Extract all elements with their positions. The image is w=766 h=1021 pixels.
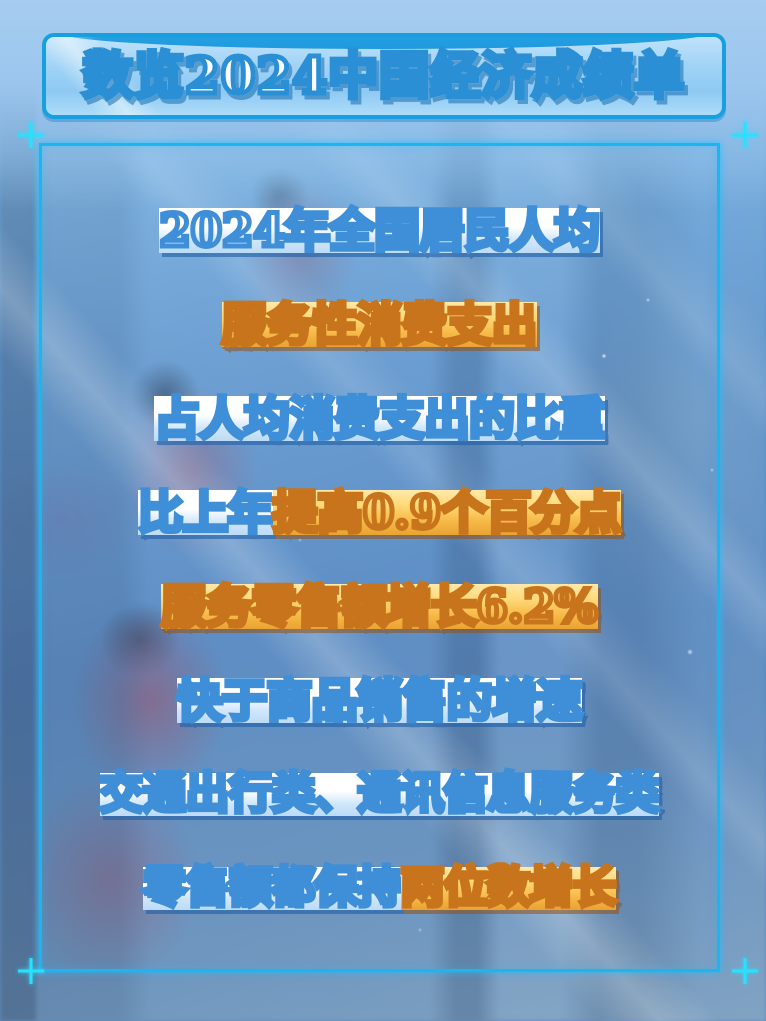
page-title: 数览2024中国经济成绩单 <box>83 51 685 101</box>
body-line-7-segment-1: 交通出行类、通讯信息服务类 <box>100 773 659 816</box>
body-line-7: 交通出行类、通讯信息服务类 <box>100 747 659 841</box>
body-line-4-segment-2: 提高0.9个百分点 <box>273 490 621 535</box>
body-line-4-segment-1: 比上年 <box>138 490 273 535</box>
body-line-6-segment-1: 快于商品销售的增速 <box>177 678 582 723</box>
body-line-3-segment-1: 占人均消费支出的比重 <box>154 396 604 441</box>
body-line-6: 快于商品销售的增速 <box>177 653 582 747</box>
body-line-2: 服务性消费支出 <box>222 277 537 371</box>
poster-root: 数览2024中国经济成绩单 2024年全国居民人均 服务性消费支出 占人均消费支… <box>0 0 766 1021</box>
body-line-5-segment-1: 服务零售额增长6.2% <box>161 584 597 629</box>
body-line-1-segment-1: 2024年全国居民人均 <box>159 208 599 253</box>
body-text-block: 2024年全国居民人均 服务性消费支出 占人均消费支出的比重 比上年 提高0.9… <box>39 143 720 972</box>
body-line-8-segment-2: 两位数增长 <box>401 867 616 910</box>
body-line-5: 服务零售额增长6.2% <box>161 559 597 653</box>
body-line-1: 2024年全国居民人均 <box>159 183 599 277</box>
title-banner: 数览2024中国经济成绩单 <box>42 33 726 119</box>
body-line-4: 比上年 提高0.9个百分点 <box>138 465 621 559</box>
body-line-8-segment-1: 零售额都保持 <box>143 867 401 910</box>
body-line-8: 零售额都保持 两位数增长 <box>143 841 616 935</box>
body-line-3: 占人均消费支出的比重 <box>154 371 604 465</box>
body-line-2-segment-1: 服务性消费支出 <box>222 302 537 347</box>
